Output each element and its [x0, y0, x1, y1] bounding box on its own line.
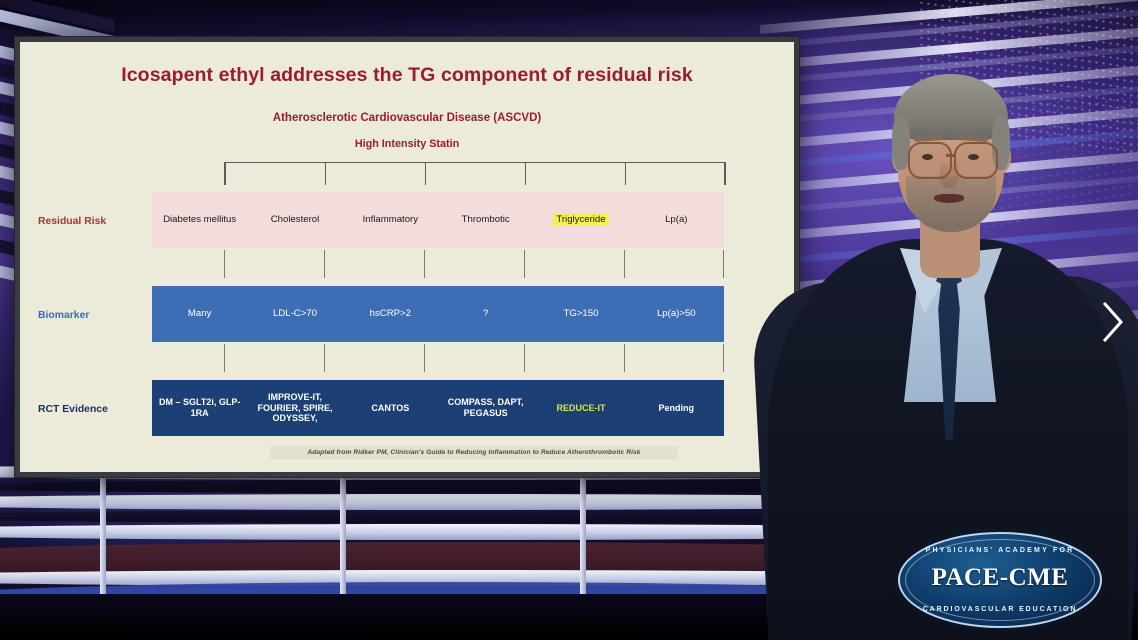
connector-line	[723, 250, 724, 278]
cell-biomarker: Many	[152, 308, 247, 320]
pace-cme-logo: PHYSICIANS' ACADEMY FOR PACE-CME CARDIOV…	[898, 532, 1102, 628]
cell-rct-evidence: CANTOS	[343, 403, 438, 414]
cell-residual-risk: Diabetes mellitus	[152, 214, 247, 226]
cell-biomarker: ?	[438, 308, 533, 320]
presentation-slide: Icosapent ethyl addresses the TG compone…	[20, 42, 794, 472]
residual-risk-band: Diabetes mellitus Cholesterol Inflammato…	[152, 192, 724, 248]
next-slide-button[interactable]	[1096, 296, 1130, 348]
cell-residual-risk-highlighted: Triglyceride	[533, 214, 628, 226]
presenter-glasses-lens-right	[954, 142, 998, 179]
cell-biomarker: hsCRP>2	[343, 308, 438, 320]
cell-residual-risk: Thrombotic	[438, 214, 533, 226]
slide-title: Icosapent ethyl addresses the TG compone…	[20, 64, 794, 87]
connector-line	[224, 344, 225, 372]
cell-residual-risk: Cholesterol	[247, 214, 342, 226]
connector-line	[723, 344, 724, 372]
presenter-hair	[894, 74, 1008, 140]
row-label-biomarker: Biomarker	[38, 310, 150, 321]
row-label-residual-risk: Residual Risk	[38, 216, 150, 227]
logo-top-arc-text: PHYSICIANS' ACADEMY FOR	[900, 547, 1100, 554]
cell-biomarker: LDL-C>70	[247, 308, 342, 320]
presenter-glasses-bridge	[946, 154, 956, 157]
cell-rct-evidence: IMPROVE-IT, FOURIER, SPIRE, ODYSSEY,	[247, 392, 342, 425]
presenter-glasses-lens-left	[908, 142, 952, 179]
biomarker-band: Many LDL-C>70 hsCRP>2 ? TG>150 Lp(a)>50	[152, 286, 724, 342]
cell-biomarker: Lp(a)>50	[629, 308, 724, 320]
connector-line	[324, 344, 325, 372]
connector-line	[524, 344, 525, 372]
presenter-mouth	[934, 194, 964, 203]
cell-rct-evidence: DM – SGLT2i, GLP-1RA	[152, 397, 247, 419]
bracket-connector	[224, 162, 726, 185]
slide-subtitle-statin: High Intensity Statin	[20, 138, 794, 150]
slide-footnote: Adapted from Ridker PM, Clinician's Guid…	[270, 446, 678, 459]
triglyceride-highlight: Triglyceride	[553, 213, 608, 226]
cell-residual-risk: Inflammatory	[343, 214, 438, 226]
reduce-it-highlight: REDUCE-IT	[556, 403, 605, 413]
connector-line	[524, 250, 525, 278]
connector-line	[424, 344, 425, 372]
chevron-right-icon	[1100, 300, 1126, 344]
cell-rct-evidence: Pending	[629, 403, 724, 414]
logo-name: PACE-CME	[900, 564, 1100, 592]
connector-line	[424, 250, 425, 278]
cell-biomarker: TG>150	[533, 308, 628, 320]
connector-line	[624, 344, 625, 372]
connector-line	[624, 250, 625, 278]
logo-bottom-arc-text: CARDIOVASCULAR EDUCATION	[900, 606, 1100, 613]
video-player-stage: Icosapent ethyl addresses the TG compone…	[0, 0, 1138, 640]
connector-line	[324, 250, 325, 278]
cell-rct-evidence: COMPASS, DAPT, PEGASUS	[438, 397, 533, 419]
rct-evidence-band: DM – SGLT2i, GLP-1RA IMPROVE-IT, FOURIER…	[152, 380, 724, 436]
presentation-slide-frame: Icosapent ethyl addresses the TG compone…	[14, 36, 800, 478]
slide-subtitle-ascvd: Atherosclerotic Cardiovascular Disease (…	[20, 112, 794, 124]
cell-rct-evidence-highlighted: REDUCE-IT	[533, 403, 628, 414]
row-label-rct-evidence: RCT Evidence	[38, 404, 150, 415]
connector-line	[224, 250, 225, 278]
cell-residual-risk: Lp(a)	[629, 214, 724, 226]
